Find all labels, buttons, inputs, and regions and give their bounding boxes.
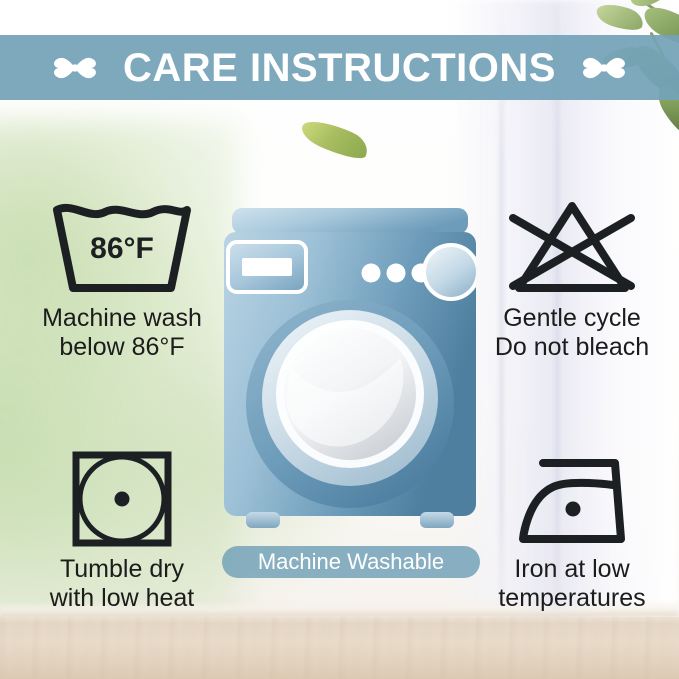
wash-tub-icon: 86°F bbox=[47, 196, 197, 298]
care-symbol-caption: Machine wash below 86°F bbox=[42, 304, 202, 361]
crossed-triangle-icon bbox=[497, 196, 647, 298]
care-symbol-tumble-dry: Tumble dry with low heat bbox=[14, 447, 230, 612]
detergent-drawer-slot bbox=[242, 258, 292, 276]
care-symbol-caption: Iron at low temperatures bbox=[498, 555, 645, 612]
control-dot bbox=[362, 264, 381, 283]
machine-washable-badge: Machine Washable bbox=[222, 546, 480, 578]
care-instructions-infographic: CARE INSTRUCTIONS 86°F Machine wash belo… bbox=[0, 0, 679, 679]
care-symbol-machine-wash: 86°F Machine wash below 86°F bbox=[14, 196, 230, 361]
table-wood-grain bbox=[0, 617, 679, 679]
badge-label: Machine Washable bbox=[258, 551, 444, 573]
control-dial-knob bbox=[424, 245, 476, 299]
header-banner: CARE INSTRUCTIONS bbox=[0, 35, 679, 100]
fleur-de-lis-icon bbox=[49, 46, 101, 90]
tumble-dry-square-icon bbox=[47, 447, 197, 549]
fleur-de-lis-icon bbox=[578, 46, 630, 90]
control-dot bbox=[387, 264, 406, 283]
care-symbol-do-not-bleach: Gentle cycle Do not bleach bbox=[464, 196, 679, 361]
iron-icon bbox=[497, 447, 647, 549]
page-title: CARE INSTRUCTIONS bbox=[123, 48, 556, 88]
wash-temperature-value: 86°F bbox=[90, 232, 154, 265]
washer-foot bbox=[420, 512, 454, 528]
care-symbol-caption: Gentle cycle Do not bleach bbox=[495, 304, 649, 361]
washer-foot bbox=[246, 512, 280, 528]
care-symbol-iron: Iron at low temperatures bbox=[464, 447, 679, 612]
washer-top-lid bbox=[232, 208, 468, 234]
washing-machine-illustration bbox=[224, 208, 476, 540]
care-symbol-caption: Tumble dry with low heat bbox=[50, 555, 195, 612]
